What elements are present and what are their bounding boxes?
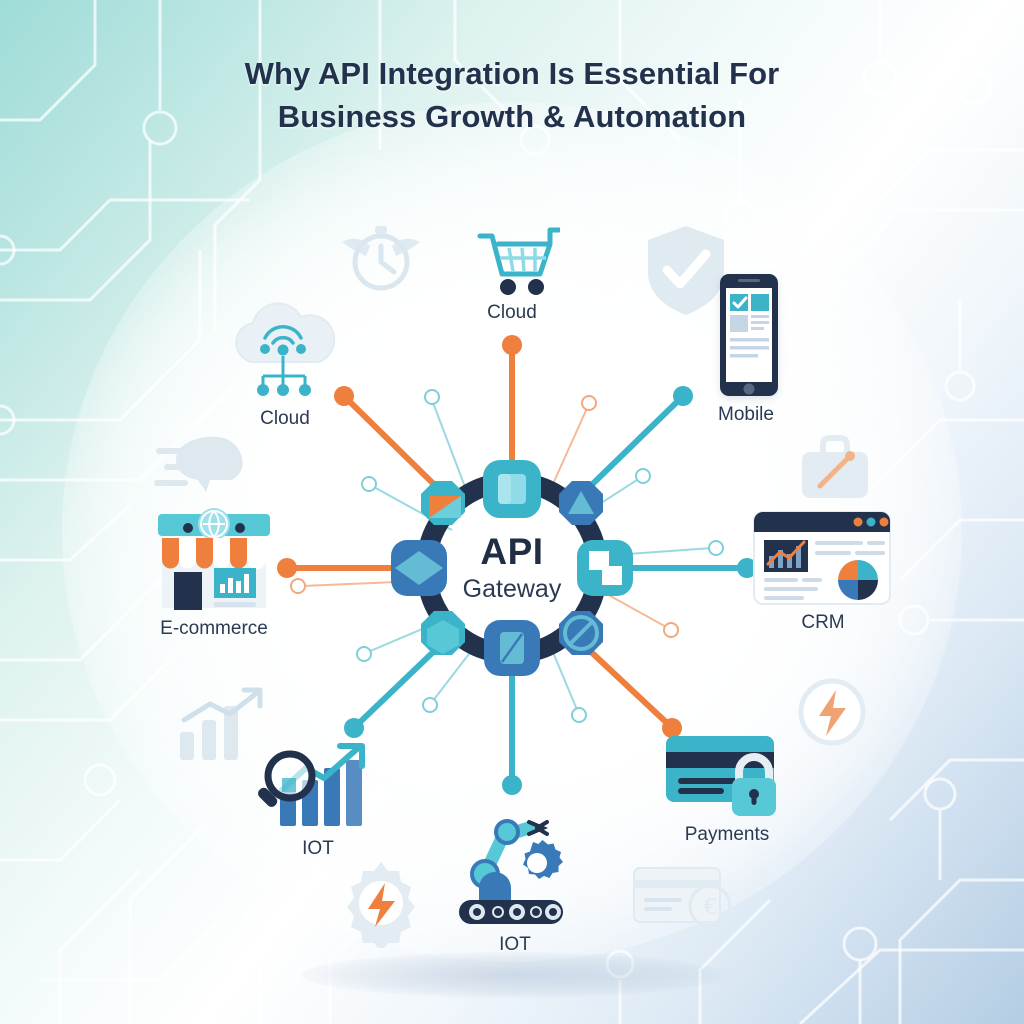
- endpoint-cloud-left[interactable]: Cloud: [212, 300, 358, 430]
- infographic-canvas: Why API Integration Is Essential For Bus…: [0, 0, 1024, 1024]
- hub-node-southeast[interactable]: [559, 611, 603, 655]
- analytics-search-icon: [256, 742, 380, 834]
- shopping-cart-icon: [464, 222, 560, 298]
- credit-card-lock-icon: [662, 730, 792, 820]
- hub-node-east[interactable]: [577, 540, 633, 596]
- endpoint-payments[interactable]: Payments: [652, 730, 802, 846]
- endpoint-label-iot-left: IOT: [248, 838, 388, 860]
- endpoint-label-crm: CRM: [748, 612, 898, 634]
- dashboard-icon: [750, 508, 896, 608]
- hub-node-northeast[interactable]: [559, 481, 603, 525]
- hub-node-west[interactable]: [391, 540, 447, 596]
- endpoint-label-cloud-left: Cloud: [212, 408, 358, 430]
- hub-node-northwest[interactable]: [421, 481, 465, 525]
- endpoint-label-iot-bottom: IOT: [440, 934, 590, 956]
- endpoint-mobile[interactable]: Mobile: [680, 272, 812, 426]
- endpoint-label-cloud-top: Cloud: [442, 302, 582, 324]
- endpoint-label-ecommerce: E-commerce: [134, 618, 294, 640]
- cloud-network-icon: [221, 300, 349, 404]
- endpoint-label-mobile: Mobile: [680, 404, 812, 426]
- endpoint-iot-bottom[interactable]: IOT: [440, 818, 590, 956]
- hub-node-north[interactable]: [483, 460, 541, 518]
- hub-node-south[interactable]: [484, 620, 540, 676]
- robot-arm-icon: [451, 818, 579, 930]
- endpoint-cloud-top[interactable]: Cloud: [442, 222, 582, 324]
- endpoint-label-payments: Payments: [652, 824, 802, 846]
- storefront-icon: [146, 498, 282, 614]
- smartphone-icon: [700, 272, 792, 400]
- endpoint-crm[interactable]: CRM: [748, 508, 898, 634]
- endpoint-iot-left[interactable]: IOT: [248, 742, 388, 860]
- hub-node-southwest[interactable]: [421, 611, 465, 655]
- endpoint-ecommerce[interactable]: E-commerce: [134, 498, 294, 640]
